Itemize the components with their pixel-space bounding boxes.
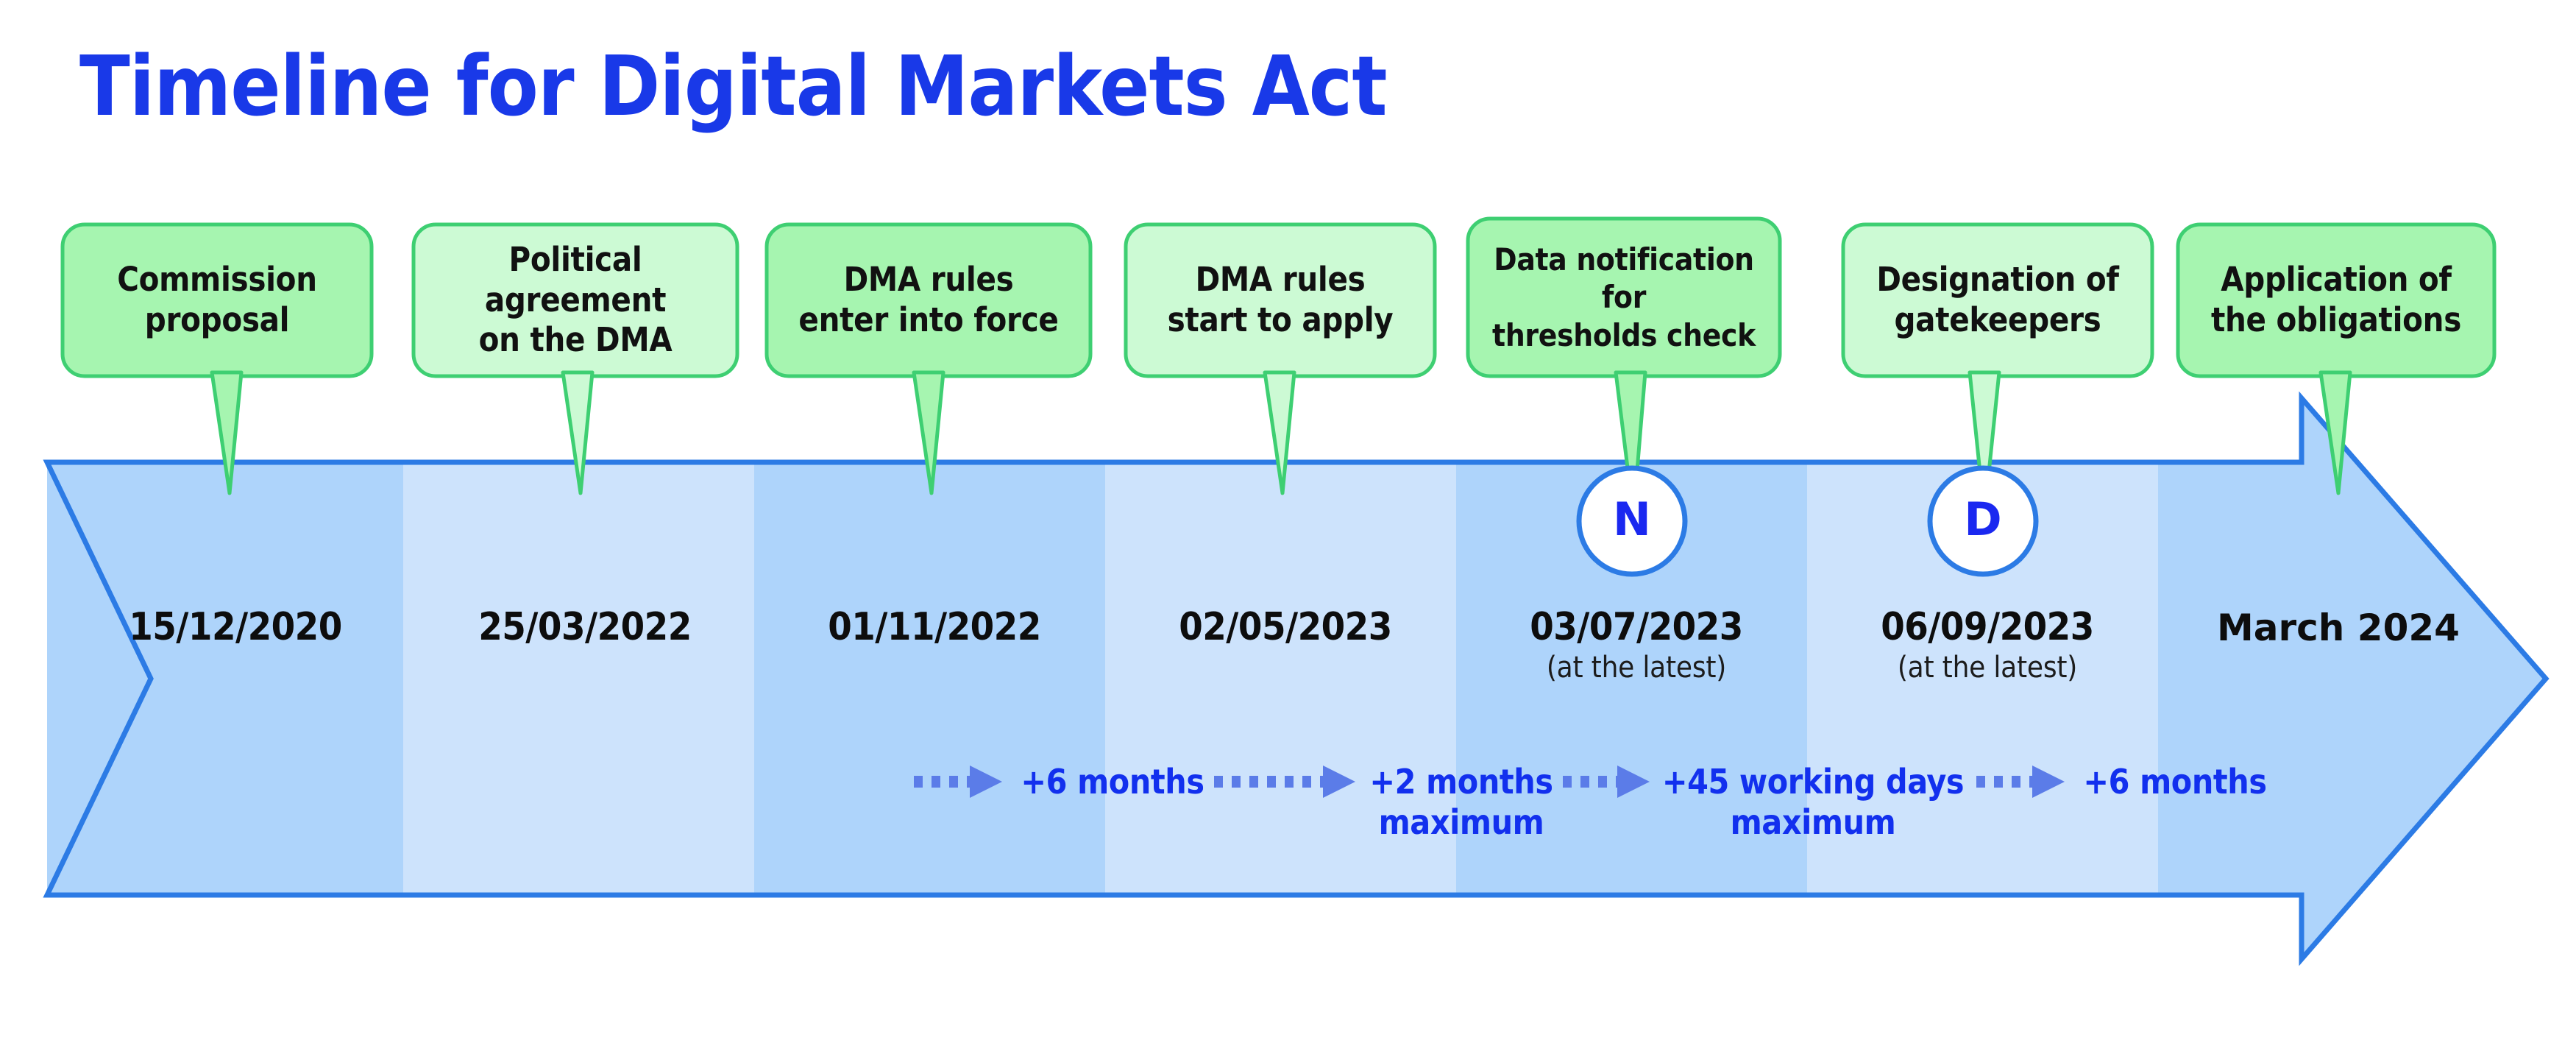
date-label-4: 02/05/2023 (1113, 607, 1458, 648)
date-label-1: 15/12/2020 (66, 607, 405, 648)
date-value-6: 06/09/2023 (1881, 605, 2094, 649)
date-label-6: 06/09/2023 (at the latest) (1814, 607, 2160, 684)
date-label-5: 03/07/2023 (at the latest) (1463, 607, 1809, 684)
callout-label-3: DMA rules enter into force (767, 224, 1090, 376)
date-value-1: 15/12/2020 (129, 605, 342, 649)
callout-label-5: Data notification for thresholds check (1468, 219, 1780, 376)
node-letter-notification: N (1595, 497, 1669, 542)
date-value-3: 01/11/2022 (828, 605, 1041, 649)
date-value-5: 03/07/2023 (1530, 605, 1743, 649)
date-value-7: March 2024 (2217, 607, 2460, 649)
duration-label-3: +45 working days maximum (1657, 762, 1969, 843)
date-value-4: 02/05/2023 (1179, 605, 1392, 649)
duration-label-1: +6 months (1010, 762, 1216, 802)
node-letter-designation: D (1946, 497, 2020, 542)
date-value-2: 25/03/2022 (478, 605, 692, 649)
timeline-arrow-right-icon (47, 398, 2546, 959)
date-label-7: March 2024 (2165, 609, 2511, 648)
callout-label-2: Political agreement on the DMA (414, 224, 737, 376)
callout-label-1: Commission proposal (63, 224, 372, 376)
date-label-3: 01/11/2022 (762, 607, 1107, 648)
date-note-6: (at the latest) (1814, 652, 2160, 683)
callout-label-6: Designation of gatekeepers (1843, 224, 2152, 376)
callout-label-7: Application of the obligations (2178, 224, 2494, 376)
callout-label-4: DMA rules start to apply (1126, 224, 1435, 376)
timeline-graphic (0, 0, 2576, 1043)
date-label-2: 25/03/2022 (412, 607, 758, 648)
date-note-5: (at the latest) (1463, 652, 1809, 683)
duration-label-4: +6 months (2072, 762, 2278, 802)
duration-label-2: +2 months maximum (1363, 762, 1560, 843)
